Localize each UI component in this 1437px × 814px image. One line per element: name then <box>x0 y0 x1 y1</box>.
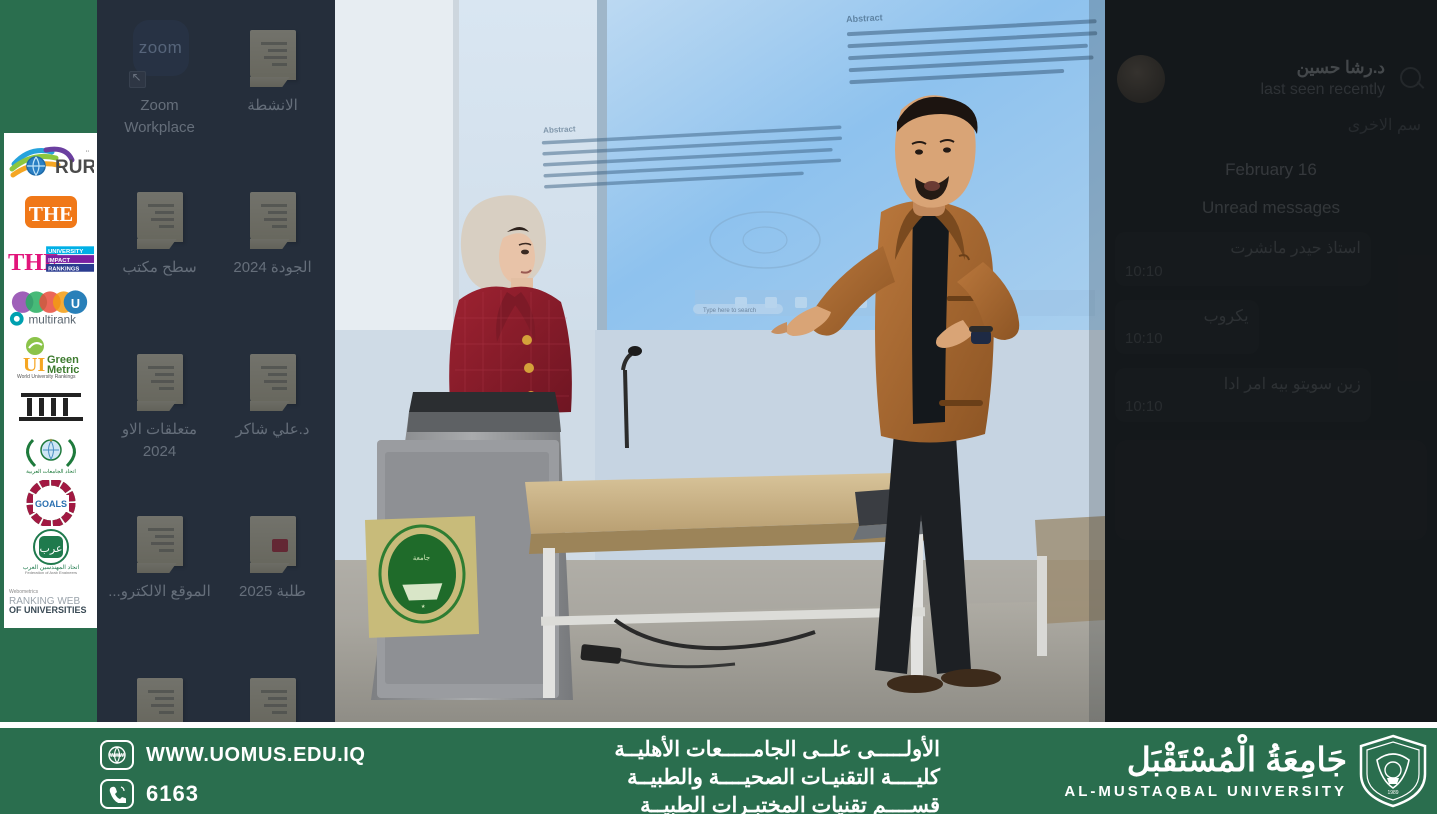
svg-text:Type here to search: Type here to search <box>703 308 756 314</box>
telegram-panel: د.رشا حسين last seen recently سم الاخرى … <box>1105 0 1437 727</box>
message-text: استاذ حيدر مانشرت <box>1230 240 1360 257</box>
svg-text:عرب: عرب <box>39 543 62 555</box>
avatar[interactable] <box>1117 55 1165 103</box>
svg-text:U: U <box>70 296 79 311</box>
telegram-chat-header[interactable]: د.رشا حسين last seen recently <box>1105 46 1437 112</box>
desktop-icon-tulaba-2025[interactable]: طلبة 2025 <box>216 502 329 664</box>
unread-messages-label: Unread messages <box>1115 198 1427 218</box>
banner-arabic-text: الأولـــــى علــى الجامـــــعات الأهليــ… <box>470 736 940 814</box>
contact-block: WWW WWW.UOMUS.EDU.IQ 6163 <box>100 740 430 814</box>
desktop-icon-label: الانشطة <box>217 95 329 117</box>
phone-row[interactable]: 6163 <box>100 779 430 809</box>
phone-icon <box>100 779 134 809</box>
shield-emblem-icon: 1989 <box>1357 734 1429 808</box>
university-name-arabic: جَامِعَةُ الْمُسْتَقْبَل <box>1064 742 1347 778</box>
svg-text:Abstract: Abstract <box>543 124 576 135</box>
desktop-background: الانشطة zoom Zoom Workplace الجودة 2024 <box>97 0 335 722</box>
bottom-banner: WWW WWW.UOMUS.EDU.IQ 6163 الأولـــــى عل… <box>0 728 1437 814</box>
svg-text:OF UNIVERSITIES: OF UNIVERSITIES <box>9 605 87 615</box>
website-url: WWW.UOMUS.EDU.IQ <box>146 744 366 767</box>
desktop-icon-mutaaliqat-2024[interactable]: متعلقات الاو 2024 <box>103 340 216 502</box>
phone-number: 6163 <box>146 781 199 807</box>
desktop-icon-dr-ali-shaker[interactable]: د.علي شاكر <box>216 340 329 502</box>
lecture-photo: Abstract Abstract <box>335 0 1105 722</box>
desktop-icon-alanshita[interactable]: الانشطة <box>216 16 329 178</box>
rur-logo: RUR ¨ <box>7 139 95 187</box>
rankings-logo-panel: RUR ¨ THE THE UNIVERSITY IMPACT RANKINGS <box>4 133 97 628</box>
sdg-goals-logo: GOALS <box>7 479 95 527</box>
svg-text:UNIVERSITY: UNIVERSITY <box>48 249 83 255</box>
shortcut-arrow-icon <box>129 71 146 88</box>
banner-arabic-line-3: قســــم تقنيات المختبـرات الطبيــة <box>470 792 940 814</box>
svg-text:جامعة: جامعة <box>413 554 431 563</box>
desktop-icon-zoom-workplace[interactable]: zoom Zoom Workplace <box>103 16 216 178</box>
date-divider: February 16 <box>1115 160 1427 180</box>
arab-universities-union-logo: ★ اتحاد الجامعات العربية <box>7 430 95 478</box>
university-name-english: AL-MUSTAQBAL UNIVERSITY <box>1064 783 1347 800</box>
folder-icon <box>244 348 302 410</box>
telegram-message-list[interactable]: سم الاخرى February 16 Unread messages اس… <box>1105 112 1437 727</box>
svg-text:UI: UI <box>23 354 45 376</box>
svg-text:★: ★ <box>421 604 426 610</box>
desktop-icon-label: Zoom Workplace <box>104 95 216 139</box>
folder-icon <box>131 510 189 572</box>
search-icon[interactable] <box>1397 64 1427 94</box>
desktop-icon-label: د.علي شاكر <box>217 419 329 441</box>
svg-text:THE: THE <box>28 202 72 226</box>
message-bubble[interactable]: زين سويتو بيه امر ادا 10:10 <box>1115 368 1371 422</box>
svg-text:Webometrics: Webometrics <box>9 589 39 595</box>
globe-icon: WWW <box>100 740 134 770</box>
desktop-icon-label: طلبة 2025 <box>217 581 329 603</box>
svg-text:Abstract: Abstract <box>846 12 883 24</box>
banner-arabic-line-2: كليــــة التقنيـات الصحيــــة والطبيــة <box>470 764 940 792</box>
folder-icon <box>131 348 189 410</box>
columns-logo <box>7 382 95 430</box>
desktop-icon-grid: الانشطة zoom Zoom Workplace الجودة 2024 <box>103 16 329 814</box>
svg-text:Federation of Arab Engineers: Federation of Arab Engineers <box>24 570 76 574</box>
svg-text:GOALS: GOALS <box>34 499 66 509</box>
desktop-icon-label: متعلقات الاو 2024 <box>104 419 216 463</box>
message-text: زين سويتو بيه امر ادا <box>1224 376 1361 393</box>
u-multirank-logo: U multirank <box>7 285 95 333</box>
folder-icon <box>131 186 189 248</box>
message-time: 10:10 <box>1125 262 1361 282</box>
svg-text:WWW: WWW <box>110 753 124 759</box>
svg-text:¨: ¨ <box>86 149 89 159</box>
message-bubble[interactable]: استاذ حيدر مانشرت 10:10 <box>1115 232 1371 286</box>
folder-pdf-icon <box>244 510 302 572</box>
message-bubble[interactable]: يكروب 10:10 <box>1115 300 1259 354</box>
message-time: 10:10 <box>1125 329 1249 349</box>
message-bubble-media[interactable] <box>1115 440 1427 540</box>
webometrics-logo: Webometrics RANKING WEB OF UNIVERSITIES <box>7 576 95 624</box>
zoom-app-icon: zoom <box>131 24 189 86</box>
the-impact-rankings-logo: THE UNIVERSITY IMPACT RANKINGS <box>7 236 95 284</box>
svg-text:★: ★ <box>48 438 53 444</box>
website-row[interactable]: WWW WWW.UOMUS.EDU.IQ <box>100 740 430 770</box>
svg-text:1989: 1989 <box>1387 790 1398 796</box>
message-preview-text: سم الاخرى <box>1115 112 1427 138</box>
screen-root: RUR ¨ THE THE UNIVERSITY IMPACT RANKINGS <box>0 0 1437 814</box>
desktop-icon-aljawda-2024[interactable]: الجودة 2024 <box>216 178 329 340</box>
desktop-icon-label: سطح مكتب <box>104 257 216 279</box>
ui-greenmetric-logo: UI Green Metric World University Ranking… <box>7 333 95 381</box>
svg-text:RANKINGS: RANKINGS <box>48 267 79 273</box>
svg-text:RUR: RUR <box>55 157 94 178</box>
svg-text:IMPACT: IMPACT <box>48 258 70 264</box>
banner-arabic-line-1: الأولـــــى علــى الجامـــــعات الأهليــ… <box>470 736 940 764</box>
contact-status: last seen recently <box>1177 79 1385 101</box>
svg-text:World University Rankings: World University Rankings <box>17 374 76 379</box>
federation-arab-engineers-logo: عرب اتحاد المهندسين العرب Federation of … <box>7 527 95 575</box>
desktop-icon-sath-maktab[interactable]: سطح مكتب <box>103 178 216 340</box>
university-brand: جَامِعَةُ الْمُسْتَقْبَل AL-MUSTAQBAL UN… <box>1064 734 1429 808</box>
desktop-icon-label: الجودة 2024 <box>217 257 329 279</box>
message-text: يكروب <box>1204 308 1249 325</box>
folder-icon <box>244 186 302 248</box>
svg-text:اتحاد الجامعات العربية: اتحاد الجامعات العربية <box>26 468 76 475</box>
contact-name: د.رشا حسين <box>1177 57 1385 79</box>
message-time: 10:10 <box>1125 397 1361 417</box>
desktop-icon-almawqi-alelectroni[interactable]: الموقع الالكترو... <box>103 502 216 664</box>
folder-icon <box>244 24 302 86</box>
the-logo: THE <box>7 188 95 236</box>
desktop-icon-label: الموقع الالكترو... <box>104 581 216 603</box>
svg-text:multirank: multirank <box>28 313 76 326</box>
